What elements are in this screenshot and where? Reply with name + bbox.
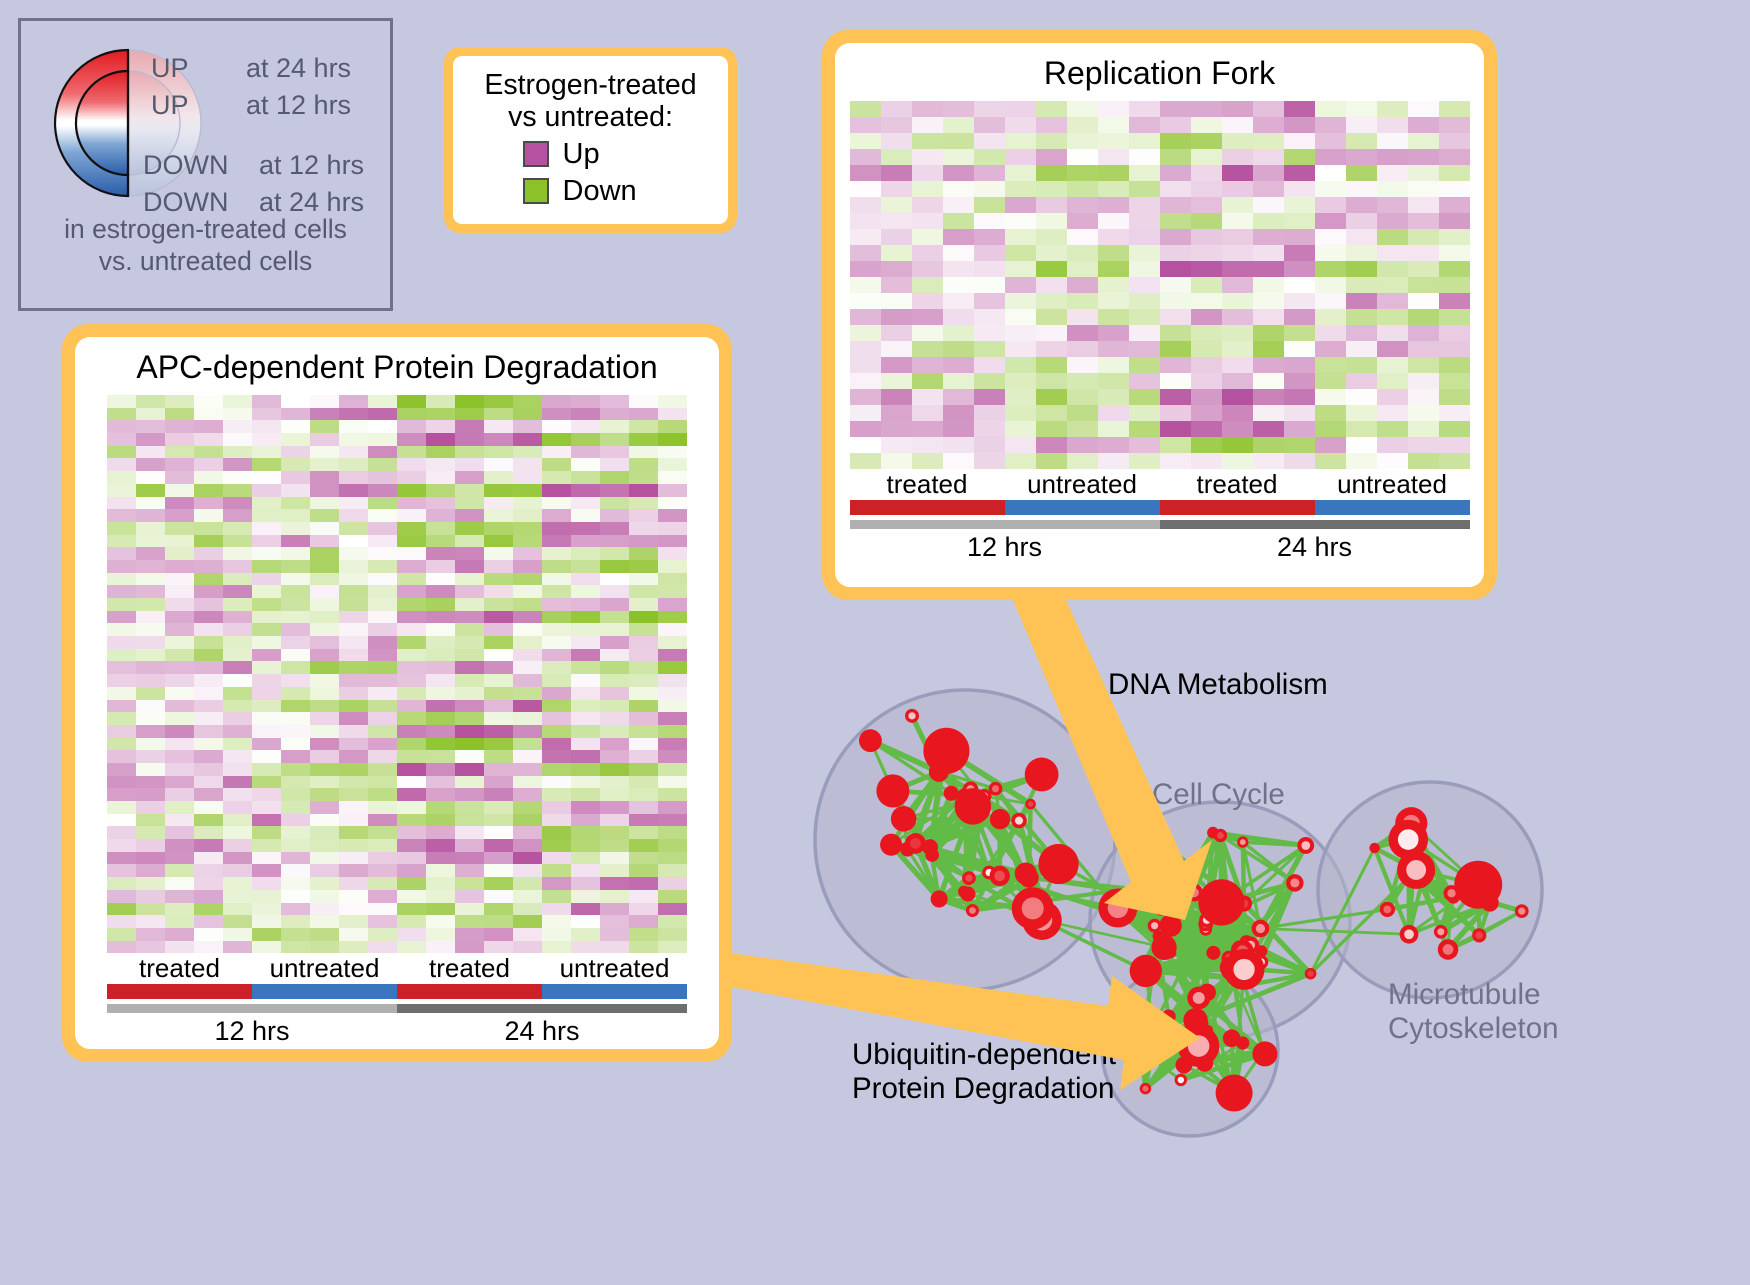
network-node[interactable] — [1162, 844, 1172, 854]
heatmap-cell — [252, 877, 281, 890]
heatmap-cell — [1284, 357, 1315, 373]
heatmap-cell — [107, 611, 136, 624]
heatmap-cell — [1005, 181, 1036, 197]
heatmap-cell — [600, 458, 629, 471]
heatmap-cell — [397, 928, 426, 941]
heatmap-cell — [223, 700, 252, 713]
heatmap-cell — [426, 497, 455, 510]
heatmap-cell — [194, 826, 223, 839]
heatmap-cell — [484, 687, 513, 700]
heatmap-cell — [629, 852, 658, 865]
heatmap-cell — [165, 864, 194, 877]
heatmap-cell — [1408, 181, 1439, 197]
heatmap-cell — [1439, 421, 1470, 437]
heatmap-cell — [1346, 453, 1377, 469]
heatmap-cell — [943, 277, 974, 293]
heatmap-cell — [194, 852, 223, 865]
heatmap-cell — [974, 341, 1005, 357]
heatmap-cell — [310, 687, 339, 700]
heatmap-cell — [1067, 373, 1098, 389]
heatmap-cell — [571, 674, 600, 687]
heatmap-cell — [455, 725, 484, 738]
heatmap-cell — [194, 484, 223, 497]
heatmap-cell — [165, 433, 194, 446]
heatmap-cell — [223, 801, 252, 814]
heatmap-cell — [1222, 389, 1253, 405]
heatmap-cell — [194, 839, 223, 852]
heatmap-cell — [281, 852, 310, 865]
heatmap-cell — [1439, 357, 1470, 373]
heatmap-cell — [1346, 405, 1377, 421]
heatmap-cell — [223, 433, 252, 446]
network-node[interactable] — [955, 788, 992, 825]
heatmap-cell — [513, 928, 542, 941]
heatmap-cell — [1408, 213, 1439, 229]
heatmap-cell — [600, 788, 629, 801]
heatmap-cell — [484, 522, 513, 535]
network-node-core — [1447, 889, 1455, 897]
heatmap-cell — [1253, 101, 1284, 117]
heatmap-cell — [1253, 421, 1284, 437]
heatmap-cell — [974, 261, 1005, 277]
heatmap-cell — [1005, 261, 1036, 277]
heatmap-cell — [484, 509, 513, 522]
network-node[interactable] — [990, 809, 1010, 829]
heatmap-cell — [600, 446, 629, 459]
heatmap-cell — [165, 573, 194, 586]
heatmap-cell — [1160, 229, 1191, 245]
network-node-core — [1028, 801, 1033, 806]
legend-swatch-up-icon — [523, 141, 549, 167]
heatmap-cell — [1191, 261, 1222, 277]
heatmap-cell — [1439, 389, 1470, 405]
heatmap-cell — [339, 877, 368, 890]
heatmap-cell — [223, 763, 252, 776]
heatmap-cell — [223, 890, 252, 903]
heatmap-cell — [1005, 277, 1036, 293]
heatmap-cell — [658, 408, 687, 421]
heatmap-cell — [1377, 117, 1408, 133]
heatmap-cell — [484, 915, 513, 928]
heatmap-cell — [658, 915, 687, 928]
network-node[interactable] — [891, 806, 917, 832]
heatmap-cell — [484, 535, 513, 548]
heatmap-cell — [1315, 357, 1346, 373]
heatmap-cell — [252, 535, 281, 548]
heatmap-cell — [310, 433, 339, 446]
heatmap-cell — [165, 877, 194, 890]
network-node[interactable] — [859, 729, 882, 752]
heatmap-cell — [397, 801, 426, 814]
heatmap-cell — [1005, 309, 1036, 325]
heatmap-cell — [252, 497, 281, 510]
heatmap-cell — [455, 661, 484, 674]
network-node-core — [1437, 928, 1444, 935]
heatmap-cell — [339, 611, 368, 624]
heatmap-cell — [339, 776, 368, 789]
heatmap-cell — [223, 649, 252, 662]
heatmap-cell — [223, 547, 252, 560]
heatmap-cell — [1439, 453, 1470, 469]
heatmap-cell — [1439, 101, 1470, 117]
heatmap-cell — [339, 738, 368, 751]
network-node-core — [1188, 1035, 1210, 1057]
heatmap-cell — [1098, 149, 1129, 165]
heatmap-cell — [281, 611, 310, 624]
heatmap-cell — [1160, 453, 1191, 469]
heatmap-cell — [1284, 181, 1315, 197]
heatmap-cell — [850, 277, 881, 293]
heatmap-cell — [339, 674, 368, 687]
heatmap-cell — [1377, 373, 1408, 389]
heatmap-cell — [600, 573, 629, 586]
heatmap-cell — [368, 763, 397, 776]
heatmap-cell — [107, 801, 136, 814]
heatmap-cell — [658, 560, 687, 573]
heatmap-cell — [629, 928, 658, 941]
heatmap-cell — [571, 763, 600, 776]
network-node-core — [1518, 908, 1525, 915]
heatmap-cell — [1346, 341, 1377, 357]
heatmap-cell — [426, 776, 455, 789]
heatmap-cell — [368, 674, 397, 687]
heatmap-cell — [397, 890, 426, 903]
heatmap-cell — [165, 776, 194, 789]
heatmap-cell — [165, 826, 194, 839]
network-node[interactable] — [1130, 955, 1162, 987]
heatmap-cell — [252, 712, 281, 725]
heatmap-cell — [629, 446, 658, 459]
heatmap-cell — [943, 149, 974, 165]
heatmap-cell — [600, 636, 629, 649]
network-node[interactable] — [1206, 946, 1220, 960]
network-node-core — [992, 785, 999, 792]
heatmap-cell — [310, 484, 339, 497]
heatmap-cell — [310, 763, 339, 776]
heatmap-cell — [658, 890, 687, 903]
network-node[interactable] — [1369, 843, 1380, 854]
heatmap-cell — [1191, 213, 1222, 229]
heatmap-cell — [1129, 117, 1160, 133]
heatmap-cell — [484, 712, 513, 725]
heatmap-cell — [513, 446, 542, 459]
time-label-12: 12 hrs — [107, 1013, 397, 1047]
heatmap-cell — [339, 522, 368, 535]
heatmap-cell — [223, 903, 252, 916]
heatmap-cell — [281, 420, 310, 433]
network-node-core — [1142, 1086, 1148, 1092]
heatmap-cell — [339, 547, 368, 560]
heatmap-cell — [107, 585, 136, 598]
heatmap-cell — [1377, 149, 1408, 165]
heatmap-cell — [455, 788, 484, 801]
heatmap-cell — [281, 433, 310, 446]
heatmap-cell — [658, 598, 687, 611]
heatmap-cell — [165, 814, 194, 827]
heatmap-cell — [1036, 165, 1067, 181]
network-node[interactable] — [923, 728, 969, 774]
heatmap-cell — [629, 674, 658, 687]
heatmap-cell — [1377, 213, 1408, 229]
heatmap-cell — [281, 687, 310, 700]
heatmap-cell — [281, 826, 310, 839]
heatmap-cell — [571, 522, 600, 535]
heatmap-cell — [1191, 373, 1222, 389]
heatmap-cell — [600, 408, 629, 421]
heatmap-cell — [223, 776, 252, 789]
heatmap-cell — [397, 458, 426, 471]
heatmap-cell — [397, 408, 426, 421]
network-node-core — [1383, 905, 1391, 913]
network-node[interactable] — [1025, 758, 1059, 792]
heatmap-cell — [658, 776, 687, 789]
heatmap-cell — [1408, 325, 1439, 341]
network-node[interactable] — [960, 887, 975, 902]
heatmap-cell — [1160, 181, 1191, 197]
heatmap-cell — [165, 738, 194, 751]
heatmap-cell — [1315, 437, 1346, 453]
group-label-untreated-24: untreated — [1315, 469, 1470, 500]
heatmap-cell — [513, 877, 542, 890]
heatmap-cell — [1098, 101, 1129, 117]
heatmap-cell — [600, 547, 629, 560]
heatmap-cell — [310, 877, 339, 890]
heatmap-cell — [1284, 165, 1315, 181]
heatmap-cell — [513, 636, 542, 649]
heatmap-cell — [368, 547, 397, 560]
heatmap-cell — [881, 437, 912, 453]
network-node[interactable] — [1162, 1009, 1176, 1023]
heatmap-cell — [455, 395, 484, 408]
heatmap-cell — [629, 890, 658, 903]
heatmap-cell — [658, 725, 687, 738]
heatmap-cell — [1036, 373, 1067, 389]
heatmap-cell — [513, 915, 542, 928]
heatmap-cell — [252, 826, 281, 839]
heatmap-cell — [1067, 261, 1098, 277]
heatmap-cell — [107, 471, 136, 484]
heatmap-cell — [252, 636, 281, 649]
heatmap-cell — [165, 395, 194, 408]
heatmap-cell — [455, 839, 484, 852]
heatmap-cell — [1067, 197, 1098, 213]
heatmap-cell — [881, 341, 912, 357]
heatmap-cell — [542, 839, 571, 852]
heatmap-cell — [1253, 357, 1284, 373]
heatmap-cell — [513, 801, 542, 814]
heatmap-cell — [974, 165, 1005, 181]
heatmap-cell — [629, 408, 658, 421]
heatmap-cell — [1067, 229, 1098, 245]
network-node-core — [1398, 829, 1419, 850]
network-node[interactable] — [880, 834, 902, 856]
heatmap-cell — [881, 277, 912, 293]
network-node[interactable] — [1454, 861, 1502, 909]
heatmap-cell — [136, 573, 165, 586]
legend-item-down: Down — [463, 175, 718, 208]
heatmap-cell — [1036, 453, 1067, 469]
heatmap-cell — [571, 585, 600, 598]
heatmap-cell — [571, 649, 600, 662]
heatmap-cell — [629, 522, 658, 535]
network-node-core — [1476, 932, 1483, 939]
heatmap-cell — [368, 611, 397, 624]
heatmap-cell — [194, 712, 223, 725]
heatmap-cell — [252, 458, 281, 471]
heatmap-cell — [484, 408, 513, 421]
heatmap-cell — [658, 522, 687, 535]
network-node-core — [1178, 1077, 1184, 1083]
key-row-up-24: UP — [151, 53, 189, 84]
group-label-treated-12: treated — [850, 469, 1005, 500]
heatmap-cell — [600, 611, 629, 624]
heatmap-cell — [513, 598, 542, 611]
heatmap-cell — [850, 453, 881, 469]
heatmap-cell — [107, 484, 136, 497]
heatmap-cell — [1222, 341, 1253, 357]
heatmap-cell — [943, 213, 974, 229]
heatmap-cell — [571, 915, 600, 928]
heatmap-cell — [397, 674, 426, 687]
heatmap-replication-fork — [850, 101, 1470, 469]
heatmap-cell — [881, 293, 912, 309]
heatmap-cell — [136, 776, 165, 789]
heatmap-cell — [943, 309, 974, 325]
heatmap-cell — [1191, 197, 1222, 213]
group-bar-untreated-12 — [1005, 500, 1160, 515]
heatmap-cell — [107, 560, 136, 573]
heatmap-cell — [1036, 437, 1067, 453]
key-legend-box: UP at 24 hrs UP at 12 hrs DOWN at 12 hrs… — [18, 18, 393, 311]
heatmap-cell — [974, 357, 1005, 373]
heatmap-cell — [1129, 405, 1160, 421]
heatmap-cell — [136, 433, 165, 446]
heatmap-cell — [426, 509, 455, 522]
heatmap-cell — [194, 636, 223, 649]
heatmap-cell — [1005, 389, 1036, 405]
heatmap-cell — [165, 636, 194, 649]
heatmap-cell — [571, 864, 600, 877]
heatmap-cell — [600, 941, 629, 954]
heatmap-cell — [107, 712, 136, 725]
heatmap-cell — [426, 547, 455, 560]
heatmap-cell — [368, 712, 397, 725]
heatmap-cell — [194, 497, 223, 510]
heatmap-cell — [1346, 309, 1377, 325]
network-node[interactable] — [1015, 862, 1037, 884]
heatmap-cell — [136, 395, 165, 408]
heatmap-cell — [223, 522, 252, 535]
time-label-12: 12 hrs — [850, 529, 1160, 563]
heatmap-cell — [136, 497, 165, 510]
heatmap-cell — [629, 509, 658, 522]
heatmap-cell — [1253, 437, 1284, 453]
heatmap-cell — [974, 117, 1005, 133]
heatmap-cell — [542, 497, 571, 510]
heatmap-cell — [368, 725, 397, 738]
heatmap-cell — [542, 598, 571, 611]
heatmap-cell — [339, 509, 368, 522]
heatmap-cell — [629, 661, 658, 674]
heatmap-cell — [107, 738, 136, 751]
heatmap-cell — [1377, 325, 1408, 341]
heatmap-cell — [571, 839, 600, 852]
heatmap-cell — [600, 763, 629, 776]
heatmap-cell — [426, 471, 455, 484]
heatmap-cell — [513, 725, 542, 738]
heatmap-cell — [1129, 373, 1160, 389]
network-node[interactable] — [1216, 1074, 1253, 1111]
heatmap-cell — [165, 408, 194, 421]
heatmap-cell — [600, 839, 629, 852]
heatmap-cell — [136, 585, 165, 598]
heatmap-cell — [310, 497, 339, 510]
network-node[interactable] — [876, 774, 909, 807]
heatmap-cell — [1005, 213, 1036, 229]
group-bar-treated-12 — [850, 500, 1005, 515]
heatmap-cell — [368, 535, 397, 548]
network-node[interactable] — [1223, 1029, 1241, 1047]
heatmap-cell — [1129, 389, 1160, 405]
network-node[interactable] — [1159, 914, 1181, 936]
heatmap-cell — [1284, 421, 1315, 437]
heatmap-cell — [397, 471, 426, 484]
heatmap-cell — [542, 928, 571, 941]
network-node[interactable] — [1252, 1041, 1277, 1066]
heatmap-cell — [542, 573, 571, 586]
heatmap-cell — [542, 420, 571, 433]
heatmap-cell — [484, 649, 513, 662]
network-node[interactable] — [1198, 879, 1244, 925]
heatmap-cell — [165, 484, 194, 497]
heatmap-cell — [397, 788, 426, 801]
legend-label-up: Up — [563, 138, 659, 171]
heatmap-cell — [368, 687, 397, 700]
heatmap-cell — [1408, 293, 1439, 309]
network-node[interactable] — [1038, 844, 1078, 884]
heatmap-cell — [310, 547, 339, 560]
heatmap-cell — [1005, 325, 1036, 341]
heatmap-cell — [1253, 261, 1284, 277]
heatmap-cell — [484, 585, 513, 598]
network-node[interactable] — [931, 890, 948, 907]
heatmap-cell — [223, 687, 252, 700]
heatmap-cell — [1408, 309, 1439, 325]
legend-title-line2: vs untreated: — [463, 102, 718, 134]
heatmap-cell — [513, 509, 542, 522]
heatmap-cell — [542, 814, 571, 827]
heatmap-cell — [484, 903, 513, 916]
heatmap-cell — [165, 535, 194, 548]
heatmap-cell — [1129, 341, 1160, 357]
heatmap-cell — [310, 928, 339, 941]
network-node[interactable] — [1151, 935, 1176, 960]
heatmap-cell — [1191, 389, 1222, 405]
heatmap-cell — [281, 674, 310, 687]
heatmap-cell — [1377, 357, 1408, 373]
heatmap-cell — [368, 814, 397, 827]
heatmap-cell — [1067, 165, 1098, 181]
heatmap-cell — [368, 877, 397, 890]
heatmap-cell — [310, 738, 339, 751]
panel-title: Replication Fork — [1044, 55, 1275, 92]
heatmap-cell — [658, 826, 687, 839]
heatmap-cell — [194, 700, 223, 713]
heatmap-cell — [1346, 389, 1377, 405]
heatmap-cell — [339, 649, 368, 662]
heatmap-cell — [281, 700, 310, 713]
heatmap-cell — [850, 421, 881, 437]
